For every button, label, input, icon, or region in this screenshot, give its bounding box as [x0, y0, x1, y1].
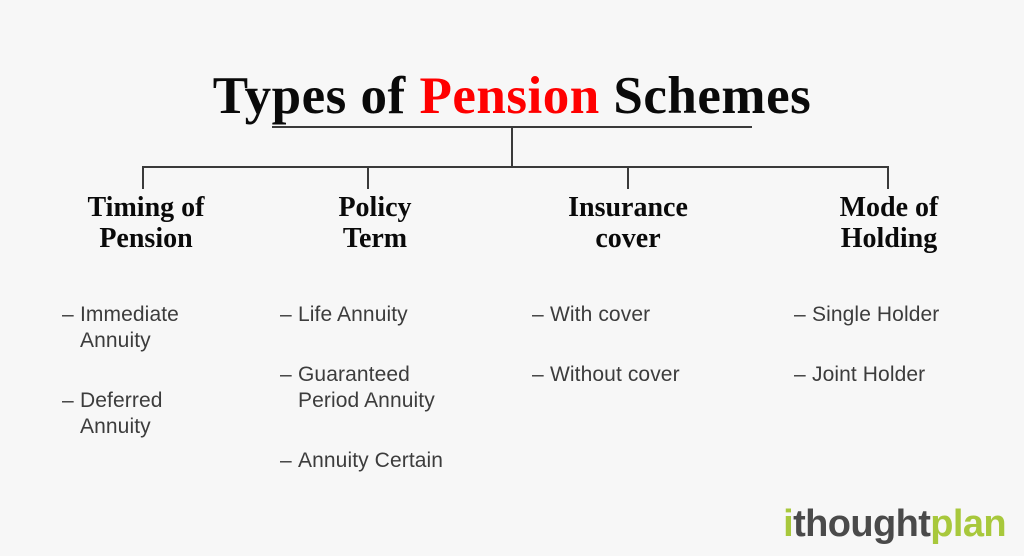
list-item-label: With cover	[550, 302, 744, 328]
branch-drop-line-4	[887, 166, 889, 189]
page-title: Types of Pension Schemes	[0, 66, 1024, 126]
bullet-dash-icon: –	[794, 362, 812, 388]
list-item-label: Immediate Annuity	[80, 302, 258, 354]
list-item: – Joint Holder	[794, 362, 1004, 388]
bullet-dash-icon: –	[532, 302, 550, 328]
branch-column-insurance-cover: Insurance cover – With cover – Without c…	[512, 192, 744, 254]
branch-columns: Timing of Pension – Immediate Annuity – …	[0, 192, 1024, 492]
branch-item-list-policy-term: – Life Annuity – Guaranteed Period Annui…	[280, 302, 488, 508]
branch-heading-insurance-cover: Insurance cover	[512, 192, 744, 254]
list-item-label: Life Annuity	[298, 302, 488, 328]
list-item: – Deferred Annuity	[62, 388, 258, 440]
list-item-label: Guaranteed Period Annuity	[298, 362, 488, 414]
branch-column-policy-term: Policy Term – Life Annuity – Guaranteed …	[262, 192, 488, 254]
branch-column-mode-of-holding: Mode of Holding – Single Holder – Joint …	[774, 192, 1004, 254]
branch-heading-timing-of-pension: Timing of Pension	[34, 192, 258, 254]
logo-part-i: i	[783, 503, 793, 545]
branch-column-timing-of-pension: Timing of Pension – Immediate Annuity – …	[34, 192, 258, 254]
branch-heading-line-2: cover	[512, 223, 744, 254]
list-item: – Immediate Annuity	[62, 302, 258, 354]
branch-item-list-mode-of-holding: – Single Holder – Joint Holder	[794, 302, 1004, 422]
list-item: – Annuity Certain	[280, 448, 488, 474]
list-item: – With cover	[532, 302, 744, 328]
infographic-canvas: Types of Pension Schemes Timing of Pensi…	[0, 0, 1024, 556]
bullet-dash-icon: –	[280, 302, 298, 328]
list-item-label: Deferred Annuity	[80, 388, 258, 440]
list-item-label: Without cover	[550, 362, 744, 388]
bullet-dash-icon: –	[532, 362, 550, 388]
branch-heading-line-2: Holding	[774, 223, 1004, 254]
title-suffix: Schemes	[600, 67, 812, 125]
branch-heading-line-1: Timing of	[34, 192, 258, 223]
list-item: – Life Annuity	[280, 302, 488, 328]
branch-heading-line-2: Pension	[34, 223, 258, 254]
list-item-label: Single Holder	[812, 302, 1004, 328]
bullet-dash-icon: –	[62, 302, 80, 328]
branch-heading-line-1: Insurance	[512, 192, 744, 223]
logo-part-plan: plan	[930, 503, 1006, 545]
branch-distribution-bar	[142, 166, 888, 168]
list-item: – Without cover	[532, 362, 744, 388]
branch-heading-policy-term: Policy Term	[262, 192, 488, 254]
bullet-dash-icon: –	[280, 448, 298, 474]
branch-heading-line-1: Policy	[262, 192, 488, 223]
branch-heading-mode-of-holding: Mode of Holding	[774, 192, 1004, 254]
logo-part-thought: thought	[793, 503, 930, 545]
bullet-dash-icon: –	[794, 302, 812, 328]
branch-item-list-timing-of-pension: – Immediate Annuity – Deferred Annuity	[62, 302, 258, 474]
branch-drop-line-3	[627, 166, 629, 189]
branch-drop-line-2	[367, 166, 369, 189]
list-item-label: Annuity Certain	[298, 448, 488, 474]
title-prefix: Types of	[213, 67, 420, 125]
branch-item-list-insurance-cover: – With cover – Without cover	[532, 302, 744, 422]
list-item-label: Joint Holder	[812, 362, 1004, 388]
brand-logo: ithoughtplan	[783, 502, 1006, 546]
branch-heading-line-2: Term	[262, 223, 488, 254]
bullet-dash-icon: –	[280, 362, 298, 388]
list-item: – Single Holder	[794, 302, 1004, 328]
branch-heading-line-1: Mode of	[774, 192, 1004, 223]
root-stem-line	[511, 126, 513, 168]
bullet-dash-icon: –	[62, 388, 80, 414]
list-item: – Guaranteed Period Annuity	[280, 362, 488, 414]
title-accent-word: Pension	[419, 67, 599, 125]
branch-drop-line-1	[142, 166, 144, 189]
